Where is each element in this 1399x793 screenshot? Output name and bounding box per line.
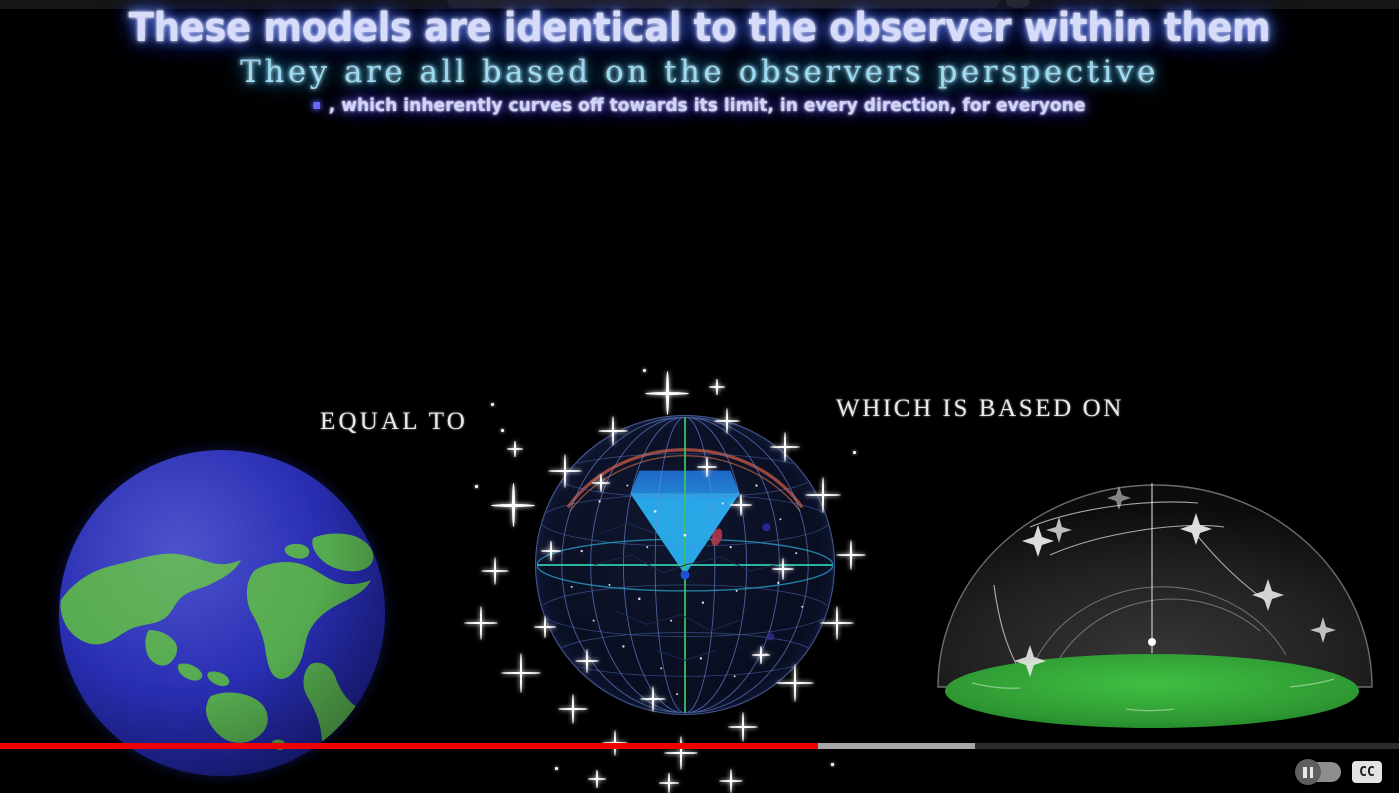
caption-line-1: These models are identical to the observ… <box>49 6 1350 50</box>
caption-line-3-row: , which inherently curves off towards it… <box>35 93 1364 119</box>
caption-line-2: They are all based on the observers pers… <box>0 52 1399 92</box>
flat-earth-dome <box>930 455 1380 745</box>
play-pause-toggle[interactable] <box>1299 762 1341 782</box>
video-player-stage[interactable]: These models are identical to the observ… <box>0 0 1399 793</box>
label-equal-to: EQUAL TO <box>320 408 468 436</box>
chrome-profile-dot[interactable] <box>1006 0 1030 8</box>
earth-shading <box>59 450 385 776</box>
celestial-sphere <box>535 415 835 715</box>
dome-graphic <box>930 455 1380 745</box>
pause-bar-right <box>1310 767 1314 778</box>
celestial-sphere-grid <box>536 416 834 714</box>
browser-chrome-strip <box>0 0 1399 9</box>
caption-bullet-icon <box>314 102 321 109</box>
celestial-sphere-group <box>455 355 885 793</box>
video-progress-bar[interactable] <box>0 743 1399 749</box>
closed-captions-button[interactable]: CC <box>1352 761 1382 783</box>
caption-line-3: , which inherently curves off towards it… <box>329 95 1086 116</box>
pause-icon <box>1295 759 1321 785</box>
earth-globe <box>59 450 385 776</box>
chrome-url-pill[interactable] <box>447 0 1000 8</box>
player-controls[interactable]: CC <box>1290 757 1395 787</box>
caption-overlay: These models are identical to the observ… <box>0 6 1399 119</box>
pause-bar-left <box>1303 767 1307 778</box>
progress-played <box>0 743 818 749</box>
